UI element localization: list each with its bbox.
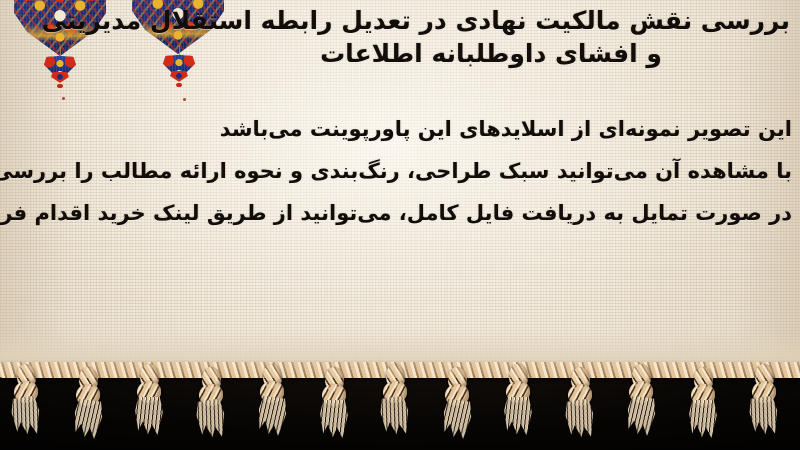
fringe-tassel (752, 364, 778, 434)
fringe-tassel (14, 364, 40, 434)
fringe-tassel (260, 364, 286, 434)
title-line-1: بررسی نقش مالکیت نهادی در تعدیل رابطه اس… (192, 4, 792, 37)
slide-canvas: بررسی نقش مالکیت نهادی در تعدیل رابطه اس… (0, 0, 800, 450)
body-line-1: این تصویر نمونه‌ای از اسلایدهای این پاور… (4, 108, 792, 150)
slide-body: این تصویر نمونه‌ای از اسلایدهای این پاور… (4, 108, 792, 234)
pendant-left-icon (44, 56, 76, 88)
texture-speck (183, 98, 186, 101)
title-line-2: و افشای داوطلبانه اطلاعات (192, 37, 792, 70)
fringe-tassel (506, 364, 532, 434)
texture-speck (62, 97, 65, 100)
fringe-tassel (76, 367, 102, 437)
fringe-tassel (691, 367, 717, 437)
fringe-tassel (568, 367, 594, 437)
fringe-tassel (383, 364, 409, 434)
pendant-right-icon (163, 55, 195, 87)
fringe-tassel (137, 364, 163, 434)
slide-title: بررسی نقش مالکیت نهادی در تعدیل رابطه اس… (192, 4, 792, 70)
body-line-3: در صورت تمایل به دریافت فایل کامل، می‌تو… (4, 192, 792, 234)
fringe-tassel (322, 367, 348, 437)
fringe-tassel (445, 367, 471, 437)
fringe-tassel (629, 364, 655, 434)
body-line-2: با مشاهده آن می‌توانید سبک طراحی، رنگ‌بن… (4, 150, 792, 192)
fringe-tassel (199, 367, 225, 437)
